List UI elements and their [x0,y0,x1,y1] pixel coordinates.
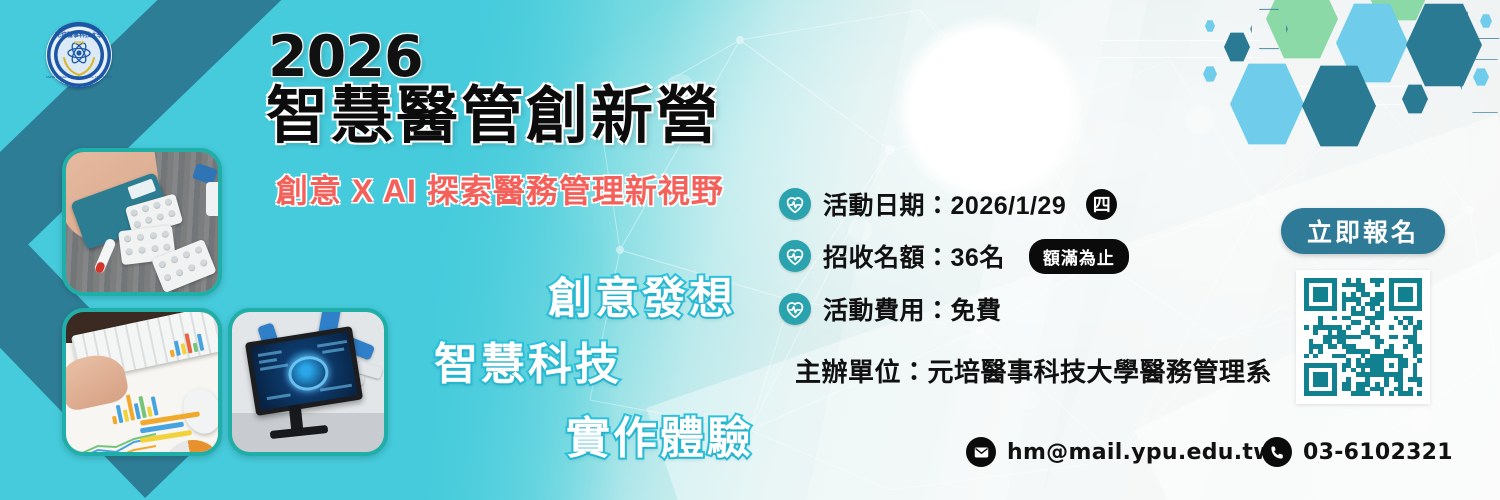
subtitle: 創意 X AI 探索醫務管理新視野 [276,166,724,212]
email-text: hm@mail.ypu.edu.tw [1007,440,1274,465]
heart-pulse-icon [779,188,811,220]
university-logo: 元培醫事科技大學 1966 YUANPEI UNIVERSITY OF MEDI… [46,22,112,88]
contact-phone[interactable]: 03-6102321 [1262,437,1453,467]
phone-text: 03-6102321 [1303,440,1453,465]
info-row-fee: 活動費用：免費 [779,291,1002,327]
organizer-line: 主辦單位：元培醫事科技大學醫務管理系 [795,352,1272,389]
year-heading: 2026 [268,24,423,90]
photo-phone-pills [62,148,222,296]
svg-text:1966: 1966 [74,40,85,45]
hexagon-decoration [1170,0,1500,200]
photo-keyboard-charts [62,308,222,456]
contact-email[interactable]: hm@mail.ypu.edu.tw [966,437,1274,467]
info-date-label: 活動日期：2026/1/29 [823,186,1066,222]
heart-pulse-icon [779,293,811,325]
weekday-badge: 四 [1086,189,1117,220]
heart-pulse-icon [779,240,811,272]
keyword-technology: 智慧科技 [434,328,622,392]
info-quota-label: 招收名額：36名 [823,238,1005,274]
svg-text:YUANPEI UNIVERSITY OF MEDICAL: YUANPEI UNIVERSITY OF MEDICAL TECHNOLOGY [46,75,112,79]
qr-code[interactable] [1296,270,1430,404]
info-row-quota: 招收名額：36名 額滿為止 [779,238,1129,274]
photo-robot-monitor [228,308,388,456]
keyword-creative: 創意發想 [548,262,736,326]
quota-status-badge: 額滿為止 [1029,239,1129,274]
page-title: 智慧醫管創新營 [266,86,721,148]
event-banner: 元培醫事科技大學 1966 YUANPEI UNIVERSITY OF MEDI… [0,0,1500,500]
register-button[interactable]: 立即報名 [1281,208,1445,254]
email-icon [966,437,996,467]
keyword-practice: 實作體驗 [566,402,754,466]
svg-text:元培醫事科技大學: 元培醫事科技大學 [55,31,103,39]
info-row-date: 活動日期：2026/1/29 四 [779,186,1117,222]
info-fee-label: 活動費用：免費 [823,291,1002,327]
phone-icon [1262,437,1292,467]
